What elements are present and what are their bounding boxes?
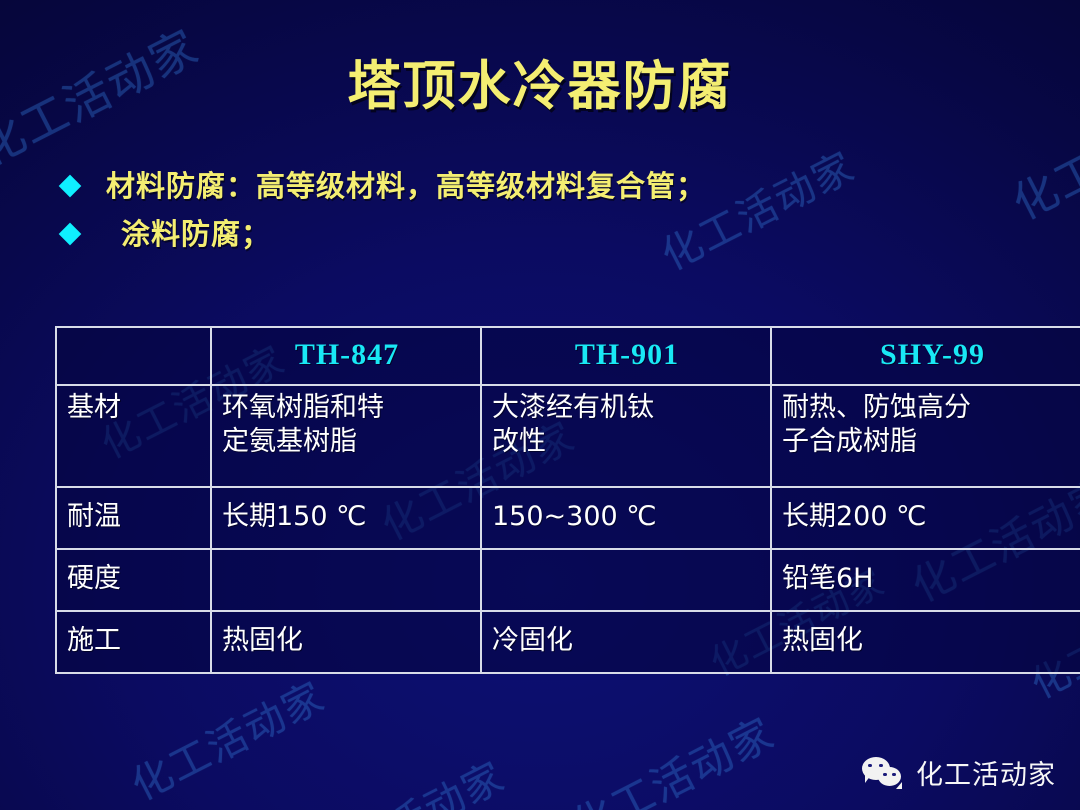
bullet-label: 材料防腐：高等级材料，高等级材料复合管；	[106, 164, 706, 208]
table-row: 施工 热固化 冷固化 热固化	[56, 611, 1080, 673]
cell-hardness-th847	[211, 549, 481, 611]
watermark-text: 化工活动家	[120, 665, 333, 810]
table-header-row: TH-847 TH-901 SHY-99	[56, 327, 1080, 385]
cell-application-th901: 冷固化	[481, 611, 771, 673]
cell-substrate-th847: 环氧树脂和特 定氨基树脂	[211, 385, 481, 487]
footer-brand: 化工活动家	[862, 753, 1056, 792]
table-row: 基材 环氧树脂和特 定氨基树脂 大漆经有机钛 改性 耐热、防蚀高分 子合成树脂	[56, 385, 1080, 487]
cell-temperature-th901: 150~300 ℃	[481, 487, 771, 549]
bullet-label: 涂料防腐；	[121, 212, 271, 256]
bullet-list: 材料防腐：高等级材料，高等级材料复合管； 涂料防腐；	[62, 164, 706, 260]
watermark-text: 化工活动家	[560, 700, 784, 810]
page-title: 塔顶水冷器防腐	[0, 56, 1080, 118]
cell-temperature-th847: 长期150 ℃	[211, 487, 481, 549]
coating-comparison-table: TH-847 TH-901 SHY-99 基材 环氧树脂和特 定氨基树脂 大漆经…	[55, 326, 1011, 674]
brand-account-name: 化工活动家	[916, 753, 1056, 792]
table-header-cell-th847: TH-847	[211, 327, 481, 385]
table-header-cell-shy99: SHY-99	[771, 327, 1080, 385]
list-item: 涂料防腐；	[62, 212, 706, 260]
list-item: 材料防腐：高等级材料，高等级材料复合管；	[62, 164, 706, 212]
cell-hardness-shy99: 铅笔6H	[771, 549, 1080, 611]
cell-substrate-shy99: 耐热、防蚀高分 子合成树脂	[771, 385, 1080, 487]
cell-temperature-shy99: 长期200 ℃	[771, 487, 1080, 549]
cell-application-th847: 热固化	[211, 611, 481, 673]
watermark-text: 化工活动家	[300, 745, 513, 810]
cell-application-shy99: 热固化	[771, 611, 1080, 673]
diamond-bullet-icon	[59, 223, 82, 246]
diamond-bullet-icon	[59, 175, 82, 198]
row-label-hardness: 硬度	[56, 549, 211, 611]
row-label-temperature: 耐温	[56, 487, 211, 549]
wechat-icon	[862, 756, 906, 790]
table-row: 耐温 长期150 ℃ 150~300 ℃ 长期200 ℃	[56, 487, 1080, 549]
cell-substrate-th901: 大漆经有机钛 改性	[481, 385, 771, 487]
row-label-application: 施工	[56, 611, 211, 673]
row-label-substrate: 基材	[56, 385, 211, 487]
table-header-cell-blank	[56, 327, 211, 385]
slide-canvas: 化工活动家化工活动家化工活动家化工活动家化工活动家化工活动家化工活动家化工活动家…	[0, 0, 1080, 810]
cell-hardness-th901	[481, 549, 771, 611]
table-header-cell-th901: TH-901	[481, 327, 771, 385]
table-row: 硬度 铅笔6H	[56, 549, 1080, 611]
